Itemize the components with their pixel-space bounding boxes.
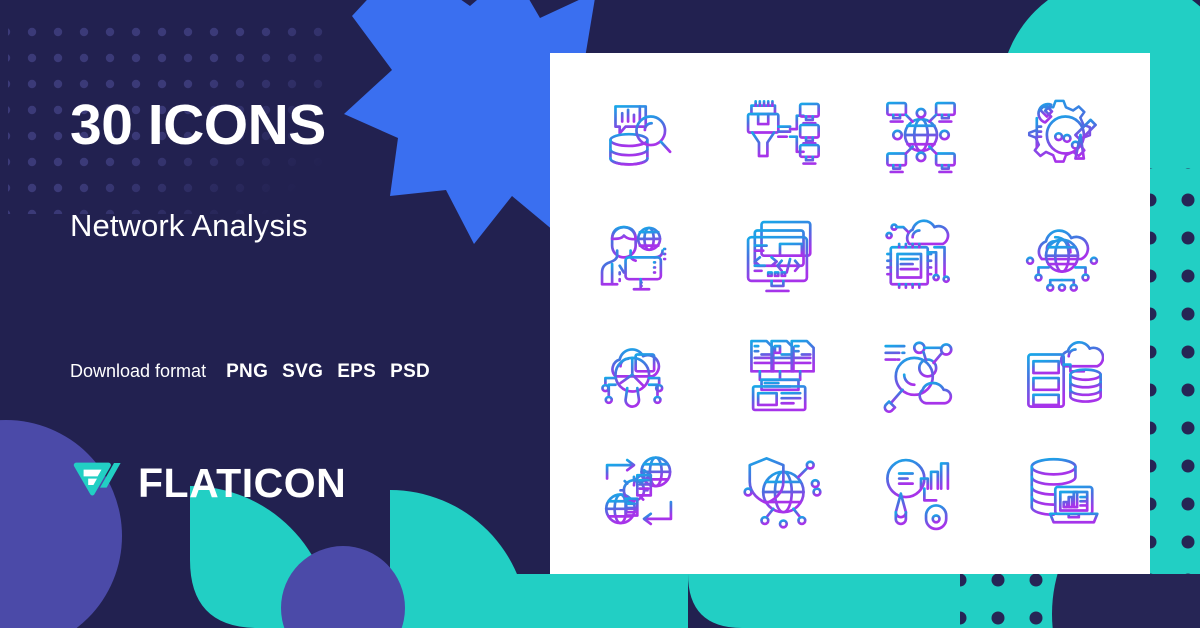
icon-cell-network-admin-user-icon[interactable] bbox=[568, 194, 709, 313]
globe-data-transfer-icon bbox=[597, 450, 681, 534]
icon-cell-gear-wrench-settings-icon[interactable] bbox=[991, 75, 1132, 194]
network-topology-search-icon bbox=[879, 331, 963, 415]
database-laptop-analytics-icon bbox=[1020, 450, 1104, 534]
icon-cell-network-topology-search-icon[interactable] bbox=[850, 314, 991, 433]
icon-cell-ethernet-cable-network-icon[interactable] bbox=[709, 75, 850, 194]
network-admin-user-icon bbox=[597, 212, 681, 296]
icon-cell-shield-globe-security-icon[interactable] bbox=[709, 433, 850, 552]
flaticon-brand: FLATICON bbox=[70, 458, 346, 508]
hero-text-block: 30 ICONS Network Analysis bbox=[70, 96, 540, 244]
icon-cell-cloud-pie-chart-search-icon[interactable] bbox=[568, 314, 709, 433]
format-svg: SVG bbox=[282, 361, 323, 383]
icon-grid bbox=[550, 53, 1150, 574]
icon-cell-web-development-code-icon[interactable] bbox=[709, 194, 850, 313]
icon-cell-globe-data-transfer-icon[interactable] bbox=[568, 433, 709, 552]
ethernet-cable-network-icon bbox=[738, 93, 822, 177]
cloud-globe-gear-icon bbox=[1020, 212, 1104, 296]
documents-structure-icon bbox=[738, 331, 822, 415]
page-title: 30 ICONS bbox=[70, 96, 540, 156]
shield-globe-security-icon bbox=[738, 450, 822, 534]
dot-overlay-bottom-right bbox=[1150, 440, 1200, 574]
cloud-pie-chart-search-icon bbox=[597, 331, 681, 415]
icon-cell-cloud-processor-chip-icon[interactable] bbox=[850, 194, 991, 313]
format-psd: PSD bbox=[390, 361, 430, 383]
icon-cell-cloud-globe-gear-icon[interactable] bbox=[991, 194, 1132, 313]
cloud-processor-chip-icon bbox=[879, 212, 963, 296]
icon-cell-documents-structure-icon[interactable] bbox=[709, 314, 850, 433]
gear-wrench-settings-icon bbox=[1020, 93, 1104, 177]
flaticon-wordmark: FLATICON bbox=[138, 463, 346, 504]
dot-pattern-right bbox=[1146, 168, 1200, 458]
format-png: PNG bbox=[226, 361, 268, 383]
icon-cell-database-laptop-analytics-icon[interactable] bbox=[991, 433, 1132, 552]
icon-preview-card bbox=[550, 53, 1150, 574]
icon-cell-server-cloud-database-icon[interactable] bbox=[991, 314, 1132, 433]
flaticon-logo-icon bbox=[70, 458, 124, 508]
promo-banner: 30 ICONS Network Analysis Download forma… bbox=[0, 0, 1200, 628]
server-cloud-database-icon bbox=[1020, 331, 1104, 415]
icon-cell-bar-chart-mouse-search-icon[interactable] bbox=[850, 433, 991, 552]
database-chart-search-icon bbox=[597, 93, 681, 177]
format-list: PNG SVG EPS PSD bbox=[226, 361, 430, 383]
icon-cell-database-chart-search-icon[interactable] bbox=[568, 75, 709, 194]
globe-computers-network-icon bbox=[879, 93, 963, 177]
download-formats: Download format PNG SVG EPS PSD bbox=[70, 361, 430, 383]
web-development-code-icon bbox=[738, 212, 822, 296]
format-eps: EPS bbox=[337, 361, 376, 383]
page-subtitle: Network Analysis bbox=[70, 208, 540, 244]
bar-chart-mouse-search-icon bbox=[879, 450, 963, 534]
download-format-label: Download format bbox=[70, 361, 206, 382]
icon-cell-globe-computers-network-icon[interactable] bbox=[850, 75, 991, 194]
